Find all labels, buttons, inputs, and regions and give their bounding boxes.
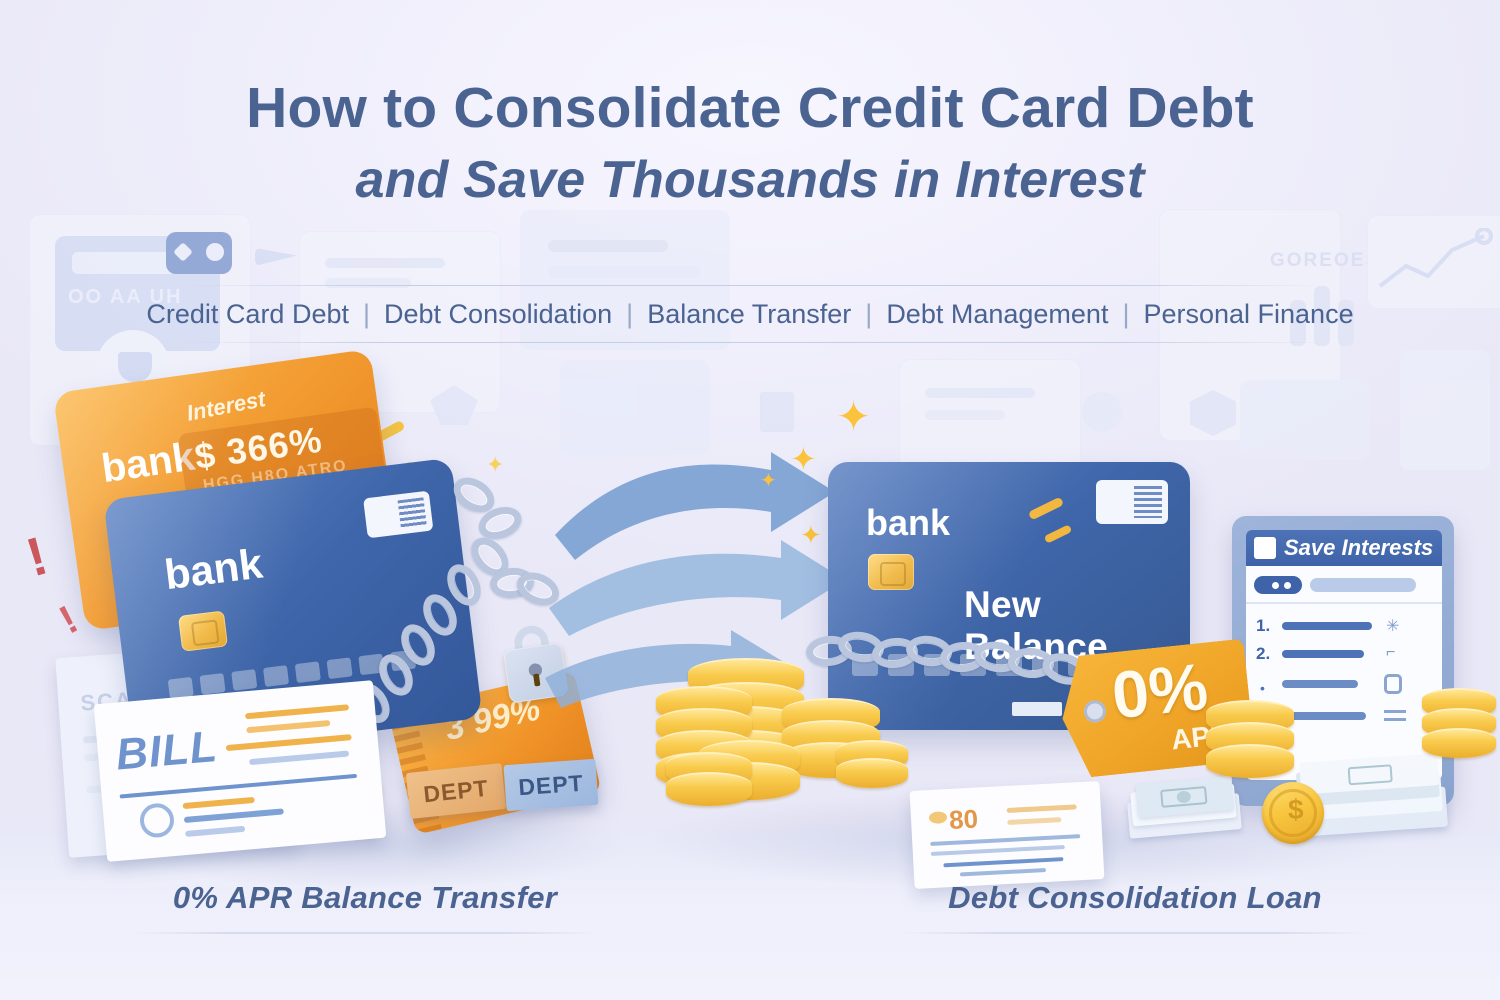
tag-balance-transfer[interactable]: Balance Transfer	[633, 299, 865, 330]
tablet-item-icon	[1384, 710, 1406, 713]
cash-bundle-left	[1125, 773, 1242, 849]
poster-canvas: OO AA UH GOREOEST	[0, 0, 1500, 1000]
wm-dot-icon	[206, 243, 224, 261]
page-title-line-2: and Save Thousands in Interest	[0, 152, 1500, 208]
tag-credit-card-debt[interactable]: Credit Card Debt	[132, 299, 363, 330]
tablet-search-bar[interactable]	[1310, 578, 1416, 592]
caption-row: 0% APR Balance Transfer Debt Consolidati…	[0, 880, 1500, 934]
wm-bar	[72, 252, 176, 274]
bill-document: BILL	[94, 680, 387, 862]
tablet-header-title: Save Interests	[1284, 535, 1433, 561]
wm-send-icon	[255, 248, 297, 266]
doc-line	[249, 750, 349, 765]
doc-line	[226, 734, 352, 751]
doc-line	[943, 857, 1063, 867]
doc-line	[931, 845, 1065, 856]
tablet-list-line	[1282, 622, 1372, 630]
tablet-item-icon	[1384, 718, 1406, 721]
tablet-item-icon: ⌐	[1386, 644, 1395, 662]
wm-line	[548, 266, 700, 278]
coin-stack-group	[650, 630, 920, 820]
doc-line	[1007, 817, 1061, 825]
caption-right: Debt Consolidation Loan	[770, 880, 1500, 934]
wm-heart-icon	[118, 352, 152, 382]
tablet-list-marker: 1.	[1256, 616, 1270, 636]
apr-tag-percent: 0%	[1109, 653, 1211, 729]
receipt-document: 80	[910, 781, 1105, 889]
tablet-item-icon	[1384, 674, 1402, 694]
doc-line	[183, 797, 255, 809]
doc-line	[246, 720, 330, 733]
sparkle-icon: ✦	[836, 392, 871, 441]
page-title-line-1: How to Consolidate Credit Card Debt	[0, 78, 1500, 140]
tablet-list-marker: •	[1260, 680, 1265, 696]
wm-doc-icon	[760, 392, 794, 432]
doc-line	[960, 868, 1046, 876]
tag-separator: |	[363, 299, 370, 330]
tablet-app-icon	[1254, 537, 1276, 559]
sparkle-icon: ✦	[790, 440, 817, 478]
sparkle-icon: ✦	[486, 452, 504, 478]
doc-line	[1007, 804, 1077, 813]
wm-line	[548, 240, 668, 252]
tablet-list-line	[1282, 650, 1364, 658]
caption-left-text: 0% APR Balance Transfer	[0, 880, 730, 916]
bill-label: BILL	[114, 722, 220, 781]
wm-circle	[1082, 392, 1122, 432]
wm-line	[325, 258, 445, 268]
doc-line	[184, 808, 284, 823]
tag-separator: |	[626, 299, 633, 330]
tablet-header-bar: Save Interests	[1246, 530, 1442, 566]
tag-eyelet	[1083, 699, 1107, 723]
tag-separator: |	[865, 299, 872, 330]
doc-line	[930, 834, 1080, 846]
coin-upright: $	[1262, 782, 1324, 844]
doc-stamp-icon	[139, 802, 176, 839]
tag-bar-bottom-rule	[170, 342, 1330, 343]
caption-right-rule	[900, 932, 1370, 934]
tag-bar: Credit Card Debt | Debt Consolidation | …	[0, 286, 1500, 342]
dept-tag-blue: DEPT	[504, 759, 599, 811]
tablet-toolbar-pill[interactable]	[1254, 576, 1302, 594]
caption-right-text: Debt Consolidation Loan	[770, 880, 1500, 916]
tag-debt-consolidation[interactable]: Debt Consolidation	[370, 299, 626, 330]
tablet-list-line	[1282, 712, 1366, 720]
tablet-list-marker: 2.	[1256, 644, 1270, 664]
wm-panel	[1400, 350, 1490, 470]
doc-icon	[929, 811, 948, 824]
tablet-divider	[1246, 602, 1442, 604]
doc-line	[185, 826, 245, 837]
header: How to Consolidate Credit Card Debt and …	[0, 78, 1500, 208]
sparkle-icon: ✦	[800, 520, 822, 551]
caption-left: 0% APR Balance Transfer	[0, 880, 770, 934]
sparkle-icon: ✦	[760, 468, 777, 493]
doc-line	[120, 774, 357, 799]
wm-line	[925, 388, 1035, 398]
tablet-item-icon: ✳	[1386, 616, 1399, 636]
tag-debt-management[interactable]: Debt Management	[872, 299, 1122, 330]
tag-separator: |	[1122, 299, 1129, 330]
wm-card	[1240, 380, 1370, 460]
doc-line	[245, 704, 349, 719]
wm-line	[925, 410, 1005, 420]
caption-left-rule	[130, 932, 600, 934]
receipt-label: 80	[948, 804, 979, 836]
tablet-list-line	[1282, 680, 1358, 688]
tag-bar-section: Credit Card Debt | Debt Consolidation | …	[0, 285, 1500, 343]
tag-personal-finance[interactable]: Personal Finance	[1129, 299, 1367, 330]
